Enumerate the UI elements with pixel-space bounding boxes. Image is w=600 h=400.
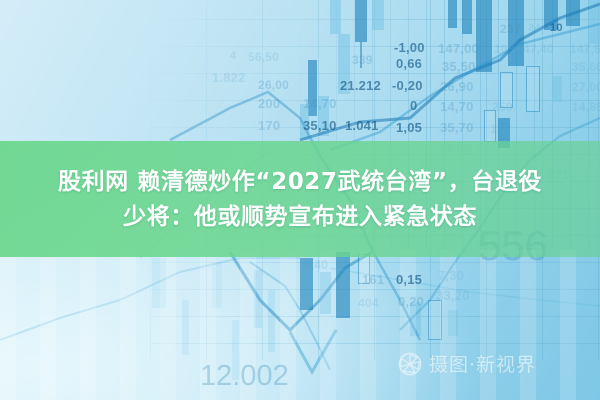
data-cell: 26,90 xyxy=(440,79,474,94)
data-cell: 0,66 xyxy=(396,56,422,71)
data-cell: 35,70 xyxy=(440,120,474,135)
data-cell: 0,15 xyxy=(396,272,422,287)
data-cell: 27,00 xyxy=(572,80,600,94)
data-cell: 35,60 xyxy=(572,60,600,74)
data-cell: 56,50 xyxy=(248,50,279,64)
data-cell: 1.041 xyxy=(345,118,379,133)
data-cell: 147,50 xyxy=(570,42,600,56)
data-cell: 34 xyxy=(528,22,541,34)
data-cell: 21.212 xyxy=(340,78,381,93)
data-cell: 4 xyxy=(230,50,236,62)
data-cell: 147,40 xyxy=(516,42,554,56)
headline-band xyxy=(0,141,600,257)
data-cell: 0 xyxy=(410,98,417,113)
column-bands xyxy=(0,250,600,400)
data-cell: 14,70 xyxy=(303,96,337,111)
data-cell: 115 xyxy=(490,122,510,136)
watermark: 摄图·新视界 xyxy=(398,350,536,377)
data-cell: 200 xyxy=(258,96,280,111)
camera-shutter-icon xyxy=(398,352,422,376)
data-cell: 103 xyxy=(494,42,515,56)
data-cell: 33,20 xyxy=(436,288,470,303)
data-cell: 404 xyxy=(358,296,379,310)
data-cell: 26,00 xyxy=(258,78,289,92)
data-cell: 1,05 xyxy=(396,120,422,135)
data-cell: 250 xyxy=(492,100,513,114)
data-cell: 0,40 xyxy=(304,258,328,272)
watermark-text: 摄图·新视界 xyxy=(429,350,536,377)
news-thumbnail: 1.82226,0056,50420017014,7035,1021.2121.… xyxy=(0,0,600,400)
data-cell: 161 xyxy=(362,272,384,287)
data-cell: 10 xyxy=(550,22,563,34)
data-cell: -1,00 xyxy=(394,40,425,55)
data-cell: 339 xyxy=(352,53,373,67)
data-cell: 35,10 xyxy=(303,118,337,133)
data-cell: 1.822 xyxy=(212,70,246,85)
data-cell: 14,70 xyxy=(440,99,474,114)
data-cell: 0,20 xyxy=(398,294,424,309)
data-cell: 170 xyxy=(258,118,280,133)
data-cell: 147,00 xyxy=(438,41,479,56)
data-cell: 35,50 xyxy=(442,59,476,74)
data-cell: -0,20 xyxy=(392,78,423,93)
large-data-cell: 12.002 xyxy=(200,360,289,393)
data-cell: 14,85 xyxy=(572,100,600,114)
data-cell: 7,30 xyxy=(438,268,464,283)
data-cell: 237 xyxy=(500,22,521,36)
